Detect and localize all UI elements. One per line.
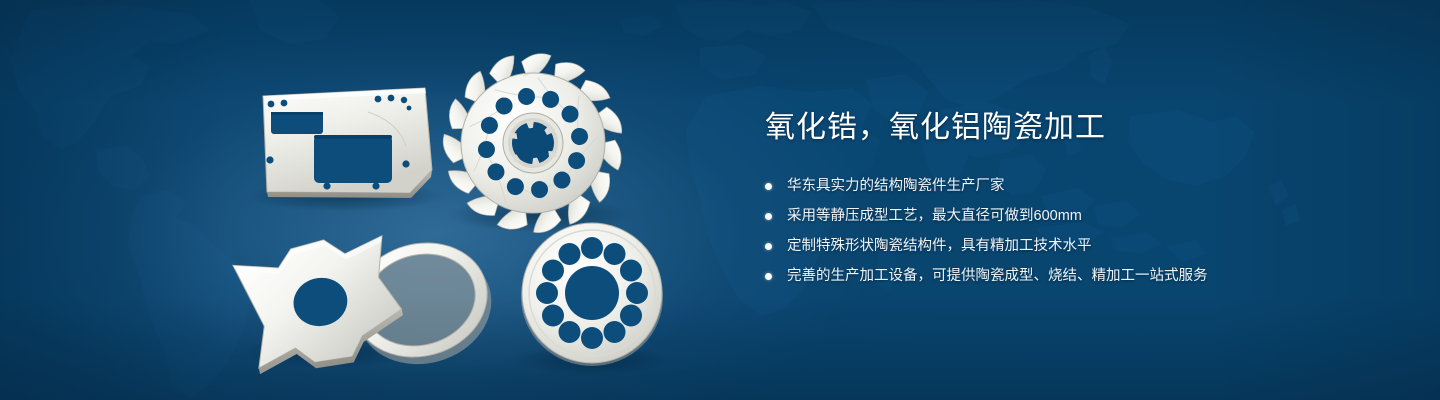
feature-bullet-text: 采用等静压成型工艺，最大直径可做到600mm [787,208,1082,224]
feature-bullet-item: 采用等静压成型工艺，最大直径可做到600mm [765,204,1385,228]
feature-bullet-list: 华东具实力的结构陶瓷件生产厂家 采用等静压成型工艺，最大直径可做到600mm 定… [765,174,1385,288]
banner-headline: 氧化锆，氧化铝陶瓷加工 [765,108,1385,148]
feature-bullet-text: 完善的生产加工设备，可提供陶瓷成型、烧结、精加工一站式服务 [787,268,1208,284]
bullet-dot-icon [765,183,772,190]
feature-bullet-text: 定制特殊形状陶瓷结构件，具有精加工技术水平 [787,238,1092,254]
feature-bullet-item: 定制特殊形状陶瓷结构件，具有精加工技术水平 [765,234,1385,258]
bullet-dot-icon [765,213,772,220]
feature-bullet-text: 华东具实力的结构陶瓷件生产厂家 [787,178,1005,194]
feature-bullet-item: 华东具实力的结构陶瓷件生产厂家 [765,174,1385,198]
banner-text-block: 氧化锆，氧化铝陶瓷加工 华东具实力的结构陶瓷件生产厂家 采用等静压成型工艺，最大… [765,108,1385,288]
bullet-dot-icon [765,243,772,250]
bullet-dot-icon [765,273,772,280]
hero-banner: 氧化锆，氧化铝陶瓷加工 华东具实力的结构陶瓷件生产厂家 采用等静压成型工艺，最大… [0,0,1440,400]
feature-bullet-item: 完善的生产加工设备，可提供陶瓷成型、烧结、精加工一站式服务 [765,264,1385,288]
